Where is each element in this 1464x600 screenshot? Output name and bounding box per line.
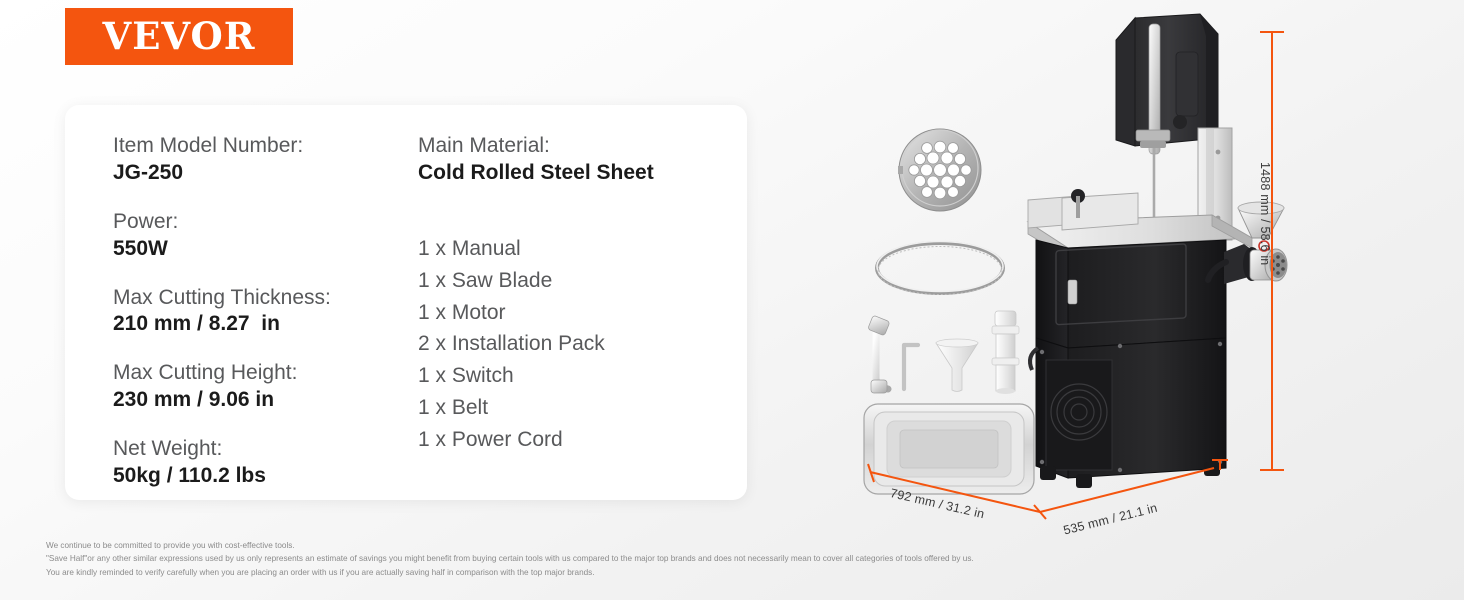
spec-item-model-number: Item Model Number: JG-250 <box>113 133 418 187</box>
dimension-height-label: 1488 mm / 58.6 in <box>1258 162 1272 265</box>
specs-column-right: Main Material: Cold Rolled Steel Sheet 1… <box>418 133 727 490</box>
spec-item-power: Power: 550W <box>113 209 418 263</box>
funnel-accessory <box>936 339 978 392</box>
grinder-plate-icon <box>942 27 944 29</box>
saw-blade-loop-accessory <box>877 242 1003 295</box>
spec-value: JG-250 <box>113 160 418 187</box>
list-item: 1 x Power Cord <box>418 424 727 456</box>
brand-logo: VEVOR <box>65 8 293 65</box>
bandsaw-machine <box>1028 14 1287 488</box>
disclaimer-line-2: "Save Half"or any other similar expressi… <box>46 552 1436 565</box>
list-item: 1 x Saw Blade <box>418 265 727 297</box>
disclaimer-line-1: We continue to be committed to provide y… <box>46 539 1436 552</box>
list-item: 1 x Belt <box>418 392 727 424</box>
stuffing-tube-accessory <box>992 311 1019 394</box>
page-root: VEVOR Item Model Number: JG-250 Power: 5… <box>0 0 1464 600</box>
spec-value: 550W <box>113 236 418 263</box>
list-item: 2 x Installation Pack <box>418 328 727 360</box>
spec-item-main-material: Main Material: Cold Rolled Steel Sheet <box>418 133 727 187</box>
product-svg <box>840 0 1464 520</box>
spec-item-net-weight: Net Weight: 50kg / 110.2 lbs <box>113 436 418 490</box>
socket-wrench-accessory <box>868 315 890 393</box>
specification-columns: Item Model Number: JG-250 Power: 550W Ma… <box>113 133 727 490</box>
footer-disclaimer: We continue to be committed to provide y… <box>46 539 1436 579</box>
spec-label: Power: <box>113 209 418 236</box>
spec-label: Item Model Number: <box>113 133 418 160</box>
specification-card: Item Model Number: JG-250 Power: 550W Ma… <box>65 105 747 500</box>
list-item: 1 x Motor <box>418 297 727 329</box>
grinder-plate-accessory <box>898 129 981 211</box>
stainless-tray-accessory <box>864 404 1034 494</box>
package-contents-list: 1 x Manual 1 x Saw Blade 1 x Motor 2 x I… <box>418 233 727 456</box>
spec-label: Max Cutting Height: <box>113 360 418 387</box>
spec-value: 50kg / 110.2 lbs <box>113 463 418 490</box>
spec-item-max-cutting-height: Max Cutting Height: 230 mm / 9.06 in <box>113 360 418 414</box>
spec-item-max-cutting-thickness: Max Cutting Thickness: 210 mm / 8.27 in <box>113 285 418 339</box>
list-item: 1 x Manual <box>418 233 727 265</box>
spec-label: Main Material: <box>418 133 727 160</box>
spec-value: Cold Rolled Steel Sheet <box>418 160 727 187</box>
fan-grille-icon <box>1046 360 1112 470</box>
spec-value: 230 mm / 9.06 in <box>113 387 418 414</box>
spec-label: Max Cutting Thickness: <box>113 285 418 312</box>
hex-key-accessory <box>904 345 918 389</box>
spec-label: Net Weight: <box>113 436 418 463</box>
disclaimer-line-3: You are kindly reminded to verify carefu… <box>46 566 1436 579</box>
list-item: 1 x Switch <box>418 360 727 392</box>
spec-value: 210 mm / 8.27 in <box>113 311 418 338</box>
product-illustration: 1488 mm / 58.6 in 792 mm / 31.2 in 535 m… <box>840 0 1464 520</box>
specs-column-left: Item Model Number: JG-250 Power: 550W Ma… <box>113 133 418 490</box>
brand-logo-text: VEVOR <box>103 18 256 55</box>
